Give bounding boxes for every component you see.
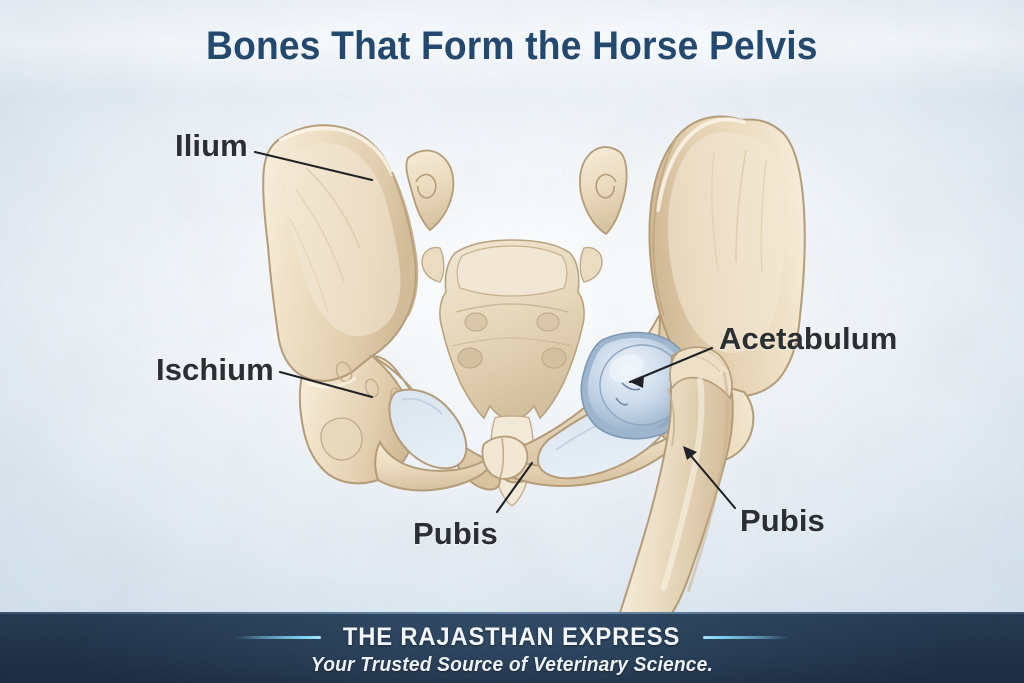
pubic-symphysis-body [482, 437, 527, 479]
left-tuber-sacrale-body [406, 151, 453, 231]
right-tuber-sacrale [580, 147, 627, 234]
sacral-plate [457, 246, 567, 296]
label-acetabulum: Acetabulum [719, 321, 897, 357]
brand-rule-right-icon [703, 636, 789, 639]
left-tuber-sacrale [406, 151, 453, 231]
label-ischium: Ischium [156, 352, 274, 388]
footer-brand-row: THE RAJASTHAN EXPRESS [0, 623, 1024, 652]
sacral-ala-right [580, 248, 602, 282]
brand-name: THE RAJASTHAN EXPRESS [343, 623, 680, 652]
footer-tagline: Your Trusted Source of Veterinary Scienc… [20, 654, 1003, 677]
left-ischial-tuberosity [321, 418, 362, 460]
pelvis-illustration [0, 0, 1024, 613]
sacral-foramen-r2 [542, 348, 566, 368]
sacral-foramen-l1 [465, 313, 487, 331]
sacral-ala-left [422, 248, 444, 282]
footer-bar: THE RAJASTHAN EXPRESS Your Trusted Sourc… [0, 612, 1024, 683]
right-tuber-sacrale-body [580, 147, 627, 234]
sacral-foramen-r1 [537, 313, 559, 331]
left-ilium [263, 125, 417, 381]
label-ilium: Ilium [175, 128, 248, 164]
label-pubis-left: Pubis [413, 516, 498, 552]
brand-rule-left-icon [235, 636, 321, 639]
infographic-canvas: Bones That Form the Horse Pelvis [0, 0, 1024, 683]
sacral-foramen-l2 [458, 348, 482, 368]
pubic-symphysis [482, 437, 527, 479]
label-pubis-right: Pubis [740, 503, 825, 539]
